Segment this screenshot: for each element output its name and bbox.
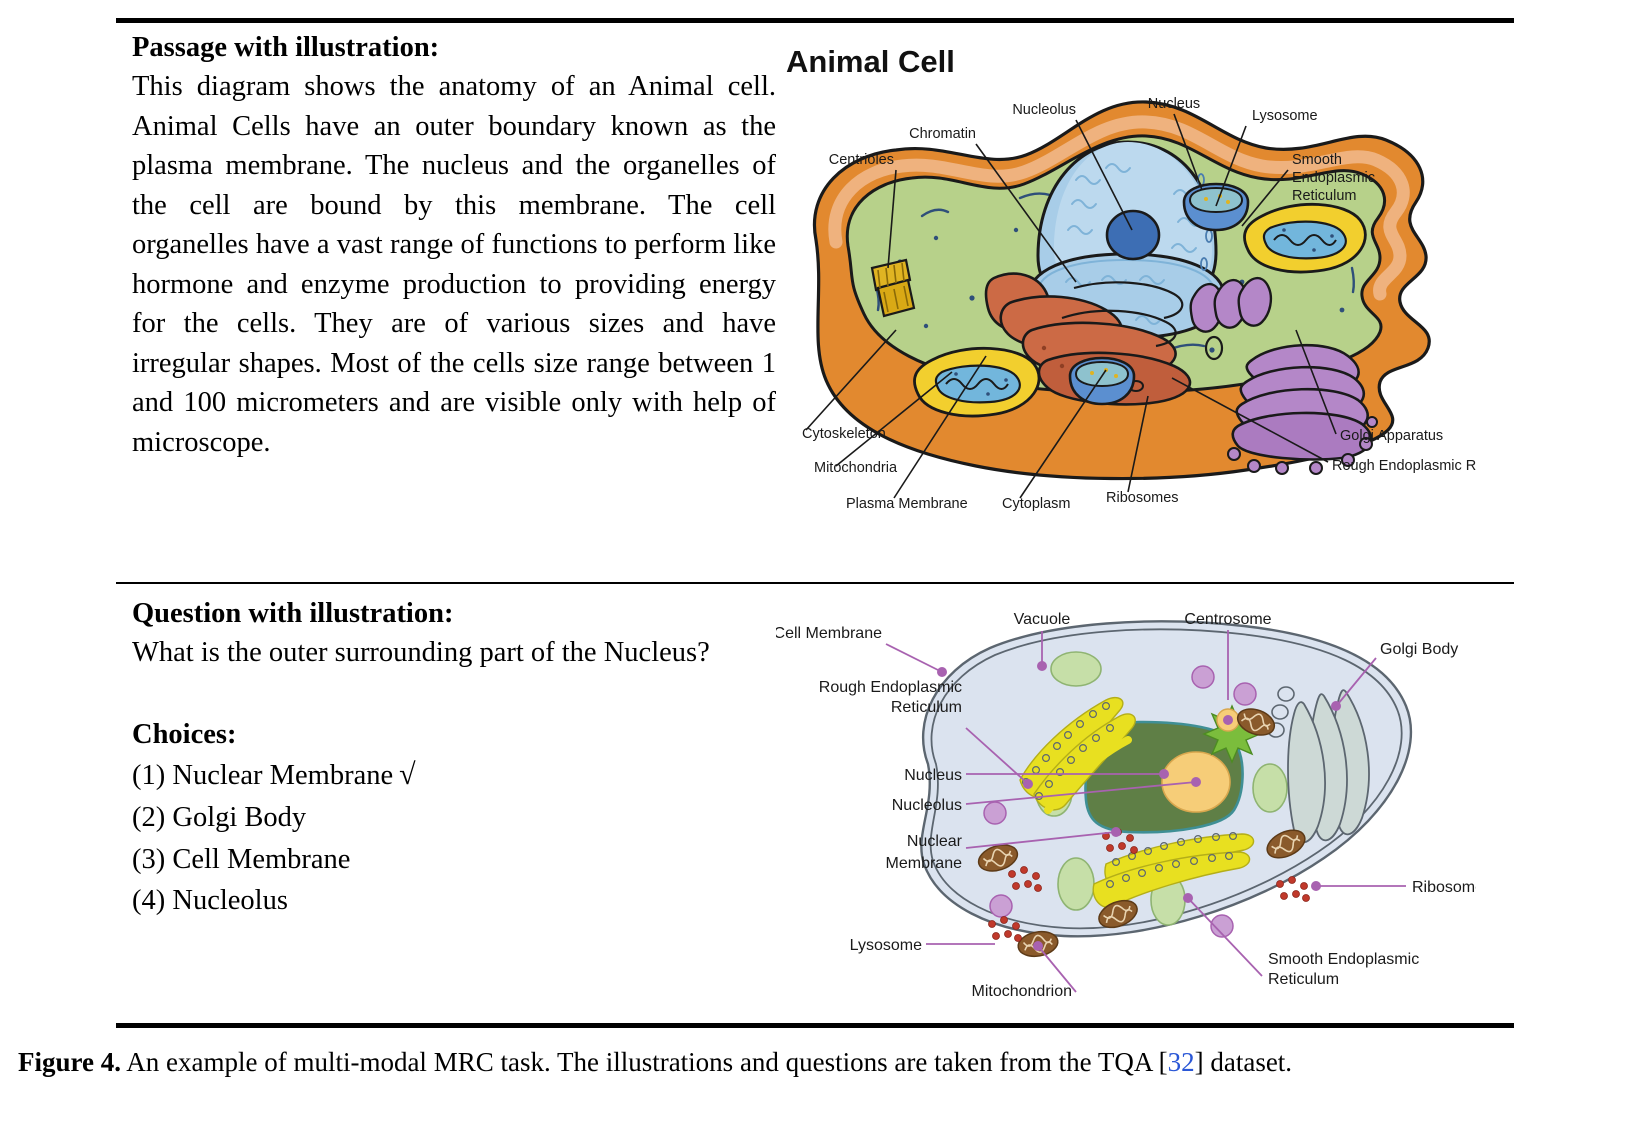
question-cell-illustration: Cell Membrane Vacuole Centrosome Golgi B… [776,596,1476,996]
label-plasma-membrane: Plasma Membrane [846,496,968,512]
passage-heading: Passage with illustration: [132,30,776,66]
nucleolus-shape [1107,211,1159,259]
mitochondrion-lower-left [914,348,1039,416]
label-smooth-er-3: Reticulum [1292,188,1356,204]
label-nuclear-membrane-1: Nuclear [907,833,963,850]
passage-text-column: Passage with illustration: This diagram … [116,30,776,462]
label-smooth-er-2: Endoplasmic [1292,170,1375,186]
label-vacuole: Vacuole [1014,611,1071,628]
animal-cell-figure: Animal Cell [776,30,1514,570]
mitochondrion-upper-right [1244,204,1365,272]
label-rough-er-1: Rough Endoplasmic [819,679,962,696]
animal-cell-title: Animal Cell [786,44,955,79]
choice-4-check-icon [288,883,294,916]
label-rough-er: Rough Endoplasmic Reticulum [1332,458,1476,474]
figure-caption-open-bracket: [ [1159,1047,1168,1077]
question-text-column: Question with illustration: What is the … [116,596,776,921]
passage-panel: Passage with illustration: This diagram … [116,30,1514,570]
label-chromatin: Chromatin [909,126,976,142]
figure-caption-label: Figure 4. [18,1047,121,1077]
choice-option-1[interactable]: (1) Nuclear Membrane√ [132,754,776,796]
choice-3-check-icon [350,842,356,875]
choice-3-label: (3) Cell Membrane [132,844,350,875]
label-cytoplasm: Cytoplasm [1002,496,1071,512]
label-nucleolus: Nucleolus [1012,102,1076,118]
lysosome-lower [1070,358,1134,404]
animal-cell-illustration: Animal Cell [776,30,1476,530]
label-mitochondria: Mitochondria [814,460,898,476]
label-rough-er-2: Reticulum [891,699,962,716]
question-panel: Question with illustration: What is the … [116,596,1514,1016]
figure-caption-text-after: dataset. [1204,1047,1292,1077]
label-ribosomes: Ribosomes [1106,490,1179,506]
choice-option-4[interactable]: (4) Nucleolus [132,879,776,921]
choice-1-check-icon: √ [393,758,415,791]
question-cell-figure: Cell Membrane Vacuole Centrosome Golgi B… [776,596,1514,1016]
top-horizontal-rule [116,18,1514,23]
figure-caption-text-before: An example of multi-modal MRC task. The … [121,1047,1159,1077]
choice-option-3[interactable]: (3) Cell Membrane [132,838,776,880]
bottom-horizontal-rule [116,1023,1514,1028]
middle-horizontal-rule [116,582,1514,584]
choice-2-label: (2) Golgi Body [132,802,306,833]
label-nucleus: Nucleus [904,767,962,784]
label-centrosome: Centrosome [1184,611,1271,628]
label-lysosome: Lysosome [850,937,922,954]
question-heading: Question with illustration: [132,596,776,632]
label-centrioles: Centrioles [829,152,894,168]
label-nucleolus: Nucleolus [892,797,962,814]
label-mitochondrion: Mitochondrion [972,983,1073,996]
choice-2-check-icon [306,800,312,833]
choices-heading: Choices: [132,715,776,754]
choice-4-label: (4) Nucleolus [132,885,288,916]
label-smooth-er-2: Reticulum [1268,971,1339,988]
label-cytoskeleton: Cytoskeleton [802,426,886,442]
label-lysosome: Lysosome [1252,108,1318,124]
label-cell-membrane: Cell Membrane [776,625,882,642]
label-smooth-er-1: Smooth [1292,152,1342,168]
passage-body: This diagram shows the anatomy of an Ani… [132,67,776,462]
citation-link-32[interactable]: 32 [1168,1047,1195,1077]
choice-1-label: (1) Nuclear Membrane [132,760,393,791]
label-golgi-body: Golgi Body [1380,641,1458,658]
figure-caption-close-bracket: ] [1195,1047,1204,1077]
lysosome-upper [1184,184,1248,230]
figure-caption: Figure 4. An example of multi-modal MRC … [18,1042,1618,1083]
label-smooth-er-1: Smooth Endoplasmic [1268,951,1419,968]
label-ribosomes: Ribosomes [1412,879,1476,896]
choice-option-2[interactable]: (2) Golgi Body [132,796,776,838]
question-text: What is the outer surrounding part of th… [132,633,776,672]
label-nuclear-membrane-2: Membrane [886,855,963,872]
label-nucleus: Nucleus [1148,96,1200,112]
label-golgi-apparatus: Golgi Apparatus [1340,428,1443,444]
